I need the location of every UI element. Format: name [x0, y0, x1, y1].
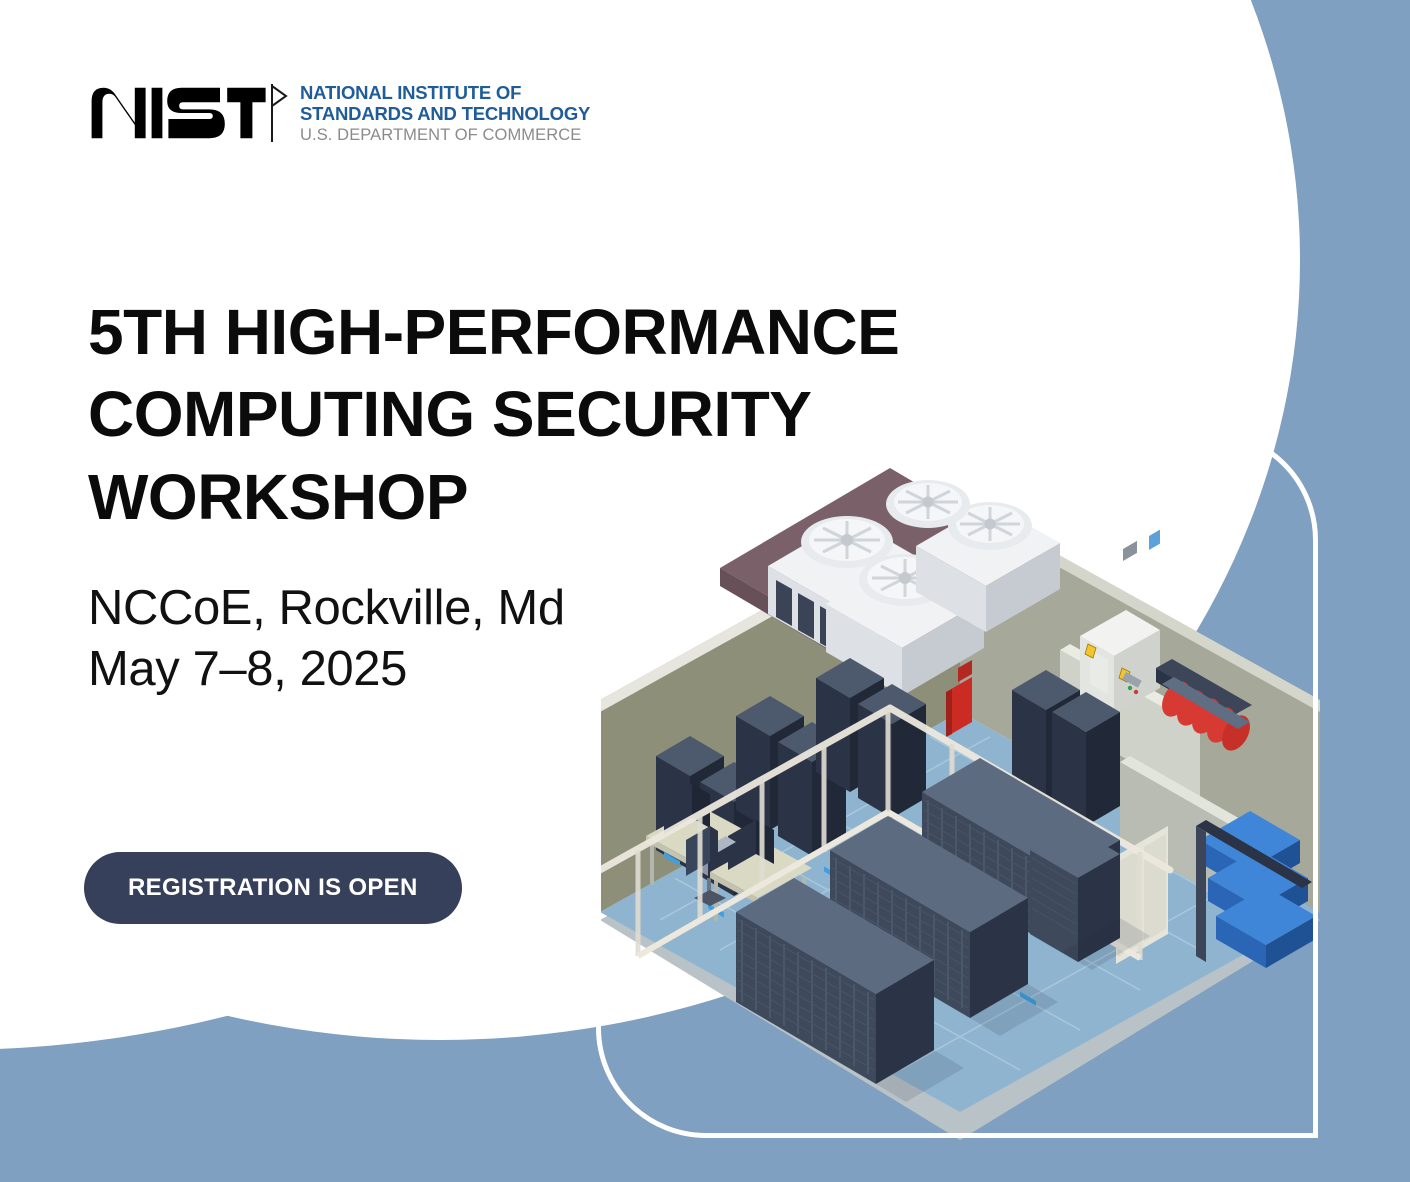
logo-line-3: U.S. DEPARTMENT OF COMMERCE: [300, 125, 590, 146]
event-dates: May 7–8, 2025: [88, 639, 708, 700]
page-title: 5TH HIGH-PERFORMANCE COMPUTING SECURITY …: [88, 291, 968, 539]
event-poster: NATIONAL INSTITUTE OF STANDARDS AND TECH…: [0, 0, 1410, 1182]
nist-logo: NATIONAL INSTITUTE OF STANDARDS AND TECH…: [88, 82, 590, 147]
nist-wordmark-icon: [88, 82, 268, 144]
event-venue: NCCoE, Rockville, Md: [88, 578, 708, 639]
logo-divider: [270, 82, 296, 147]
logo-line-1: NATIONAL INSTITUTE OF: [300, 82, 590, 103]
event-details: NCCoE, Rockville, Md May 7–8, 2025: [88, 578, 708, 700]
logo-line-2: STANDARDS AND TECHNOLOGY: [300, 103, 590, 124]
registration-button[interactable]: REGISTRATION IS OPEN: [84, 852, 462, 924]
